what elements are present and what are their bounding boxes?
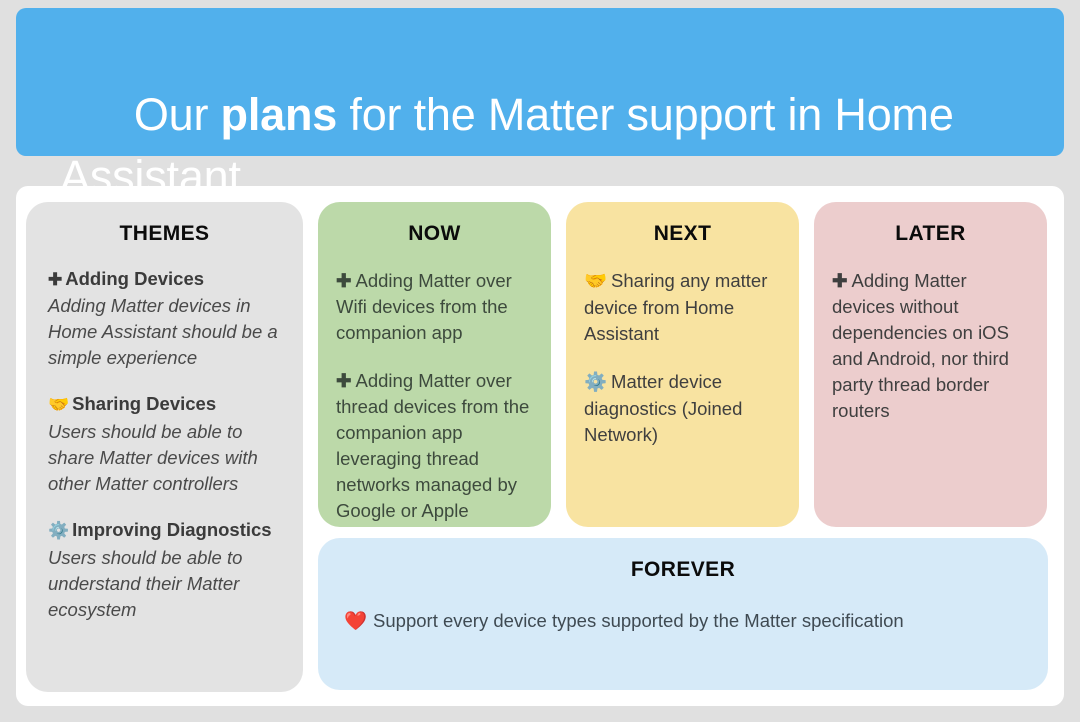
lane-title-now: NOW	[336, 222, 533, 246]
theme-heading: Sharing Devices	[72, 393, 216, 414]
lane-title-forever: FOREVER	[344, 558, 1022, 582]
lane-item-text: Adding Matter devices without dependenci…	[832, 270, 1009, 421]
themes-column: THEMES ✚Adding Devices Adding Matter dev…	[26, 202, 303, 692]
theme-heading-row: 🤝Sharing Devices	[48, 391, 281, 418]
theme-item: ✚Adding Devices Adding Matter devices in…	[48, 266, 281, 371]
forever-item-text: Support every device types supported by …	[373, 610, 904, 631]
lane-later: LATER ✚Adding Matter devices without dep…	[814, 202, 1047, 527]
red-heart-icon: ❤️	[344, 611, 367, 632]
theme-heading-row: ✚Adding Devices	[48, 266, 281, 292]
lane-item: ⚙️Matter device diagnostics (Joined Netw…	[584, 369, 781, 448]
lane-item: ✚Adding Matter over Wifi devices from th…	[336, 268, 533, 346]
plus-icon: ✚	[336, 370, 352, 391]
lane-title-later: LATER	[832, 222, 1029, 246]
lane-now: NOW ✚Adding Matter over Wifi devices fro…	[318, 202, 551, 527]
lane-next: NEXT 🤝Sharing any matter device from Hom…	[566, 202, 799, 527]
theme-description: Adding Matter devices in Home Assistant …	[48, 293, 281, 371]
lane-item: ✚Adding Matter over thread devices from …	[336, 368, 533, 524]
lane-item: 🤝Sharing any matter device from Home Ass…	[584, 268, 781, 347]
theme-item: ⚙️Improving Diagnostics Users should be …	[48, 517, 281, 623]
handshake-icon: 🤝	[584, 271, 607, 292]
title-prefix: Our	[134, 89, 221, 140]
lane-item: ✚Adding Matter devices without dependenc…	[832, 268, 1029, 424]
forever-item: ❤️Support every device types supported b…	[344, 608, 1022, 635]
theme-heading: Improving Diagnostics	[72, 519, 271, 540]
lane-item-text: Matter device diagnostics (Joined Networ…	[584, 371, 742, 445]
theme-description: Users should be able to share Matter dev…	[48, 419, 281, 497]
handshake-icon: 🤝	[48, 395, 69, 415]
theme-description: Users should be able to understand their…	[48, 545, 281, 623]
gear-icon: ⚙️	[48, 521, 69, 541]
lane-title-next: NEXT	[584, 222, 781, 246]
roadmap-slide: Our plans for the Matter support in Home…	[0, 0, 1080, 722]
theme-item: 🤝Sharing Devices Users should be able to…	[48, 391, 281, 497]
plus-icon: ✚	[48, 270, 62, 289]
theme-heading: Adding Devices	[65, 268, 204, 289]
lane-forever: FOREVER ❤️Support every device types sup…	[318, 538, 1048, 690]
lane-item-text: Adding Matter over Wifi devices from the…	[336, 270, 512, 343]
title-emphasis: plans	[221, 89, 338, 140]
theme-heading-row: ⚙️Improving Diagnostics	[48, 517, 281, 544]
gear-icon: ⚙️	[584, 372, 607, 393]
plus-icon: ✚	[336, 270, 352, 291]
plus-icon: ✚	[832, 270, 848, 291]
header-banner: Our plans for the Matter support in Home…	[16, 8, 1064, 156]
lane-item-text: Sharing any matter device from Home Assi…	[584, 270, 767, 344]
themes-title: THEMES	[48, 222, 281, 246]
lane-item-text: Adding Matter over thread devices from t…	[336, 370, 529, 521]
